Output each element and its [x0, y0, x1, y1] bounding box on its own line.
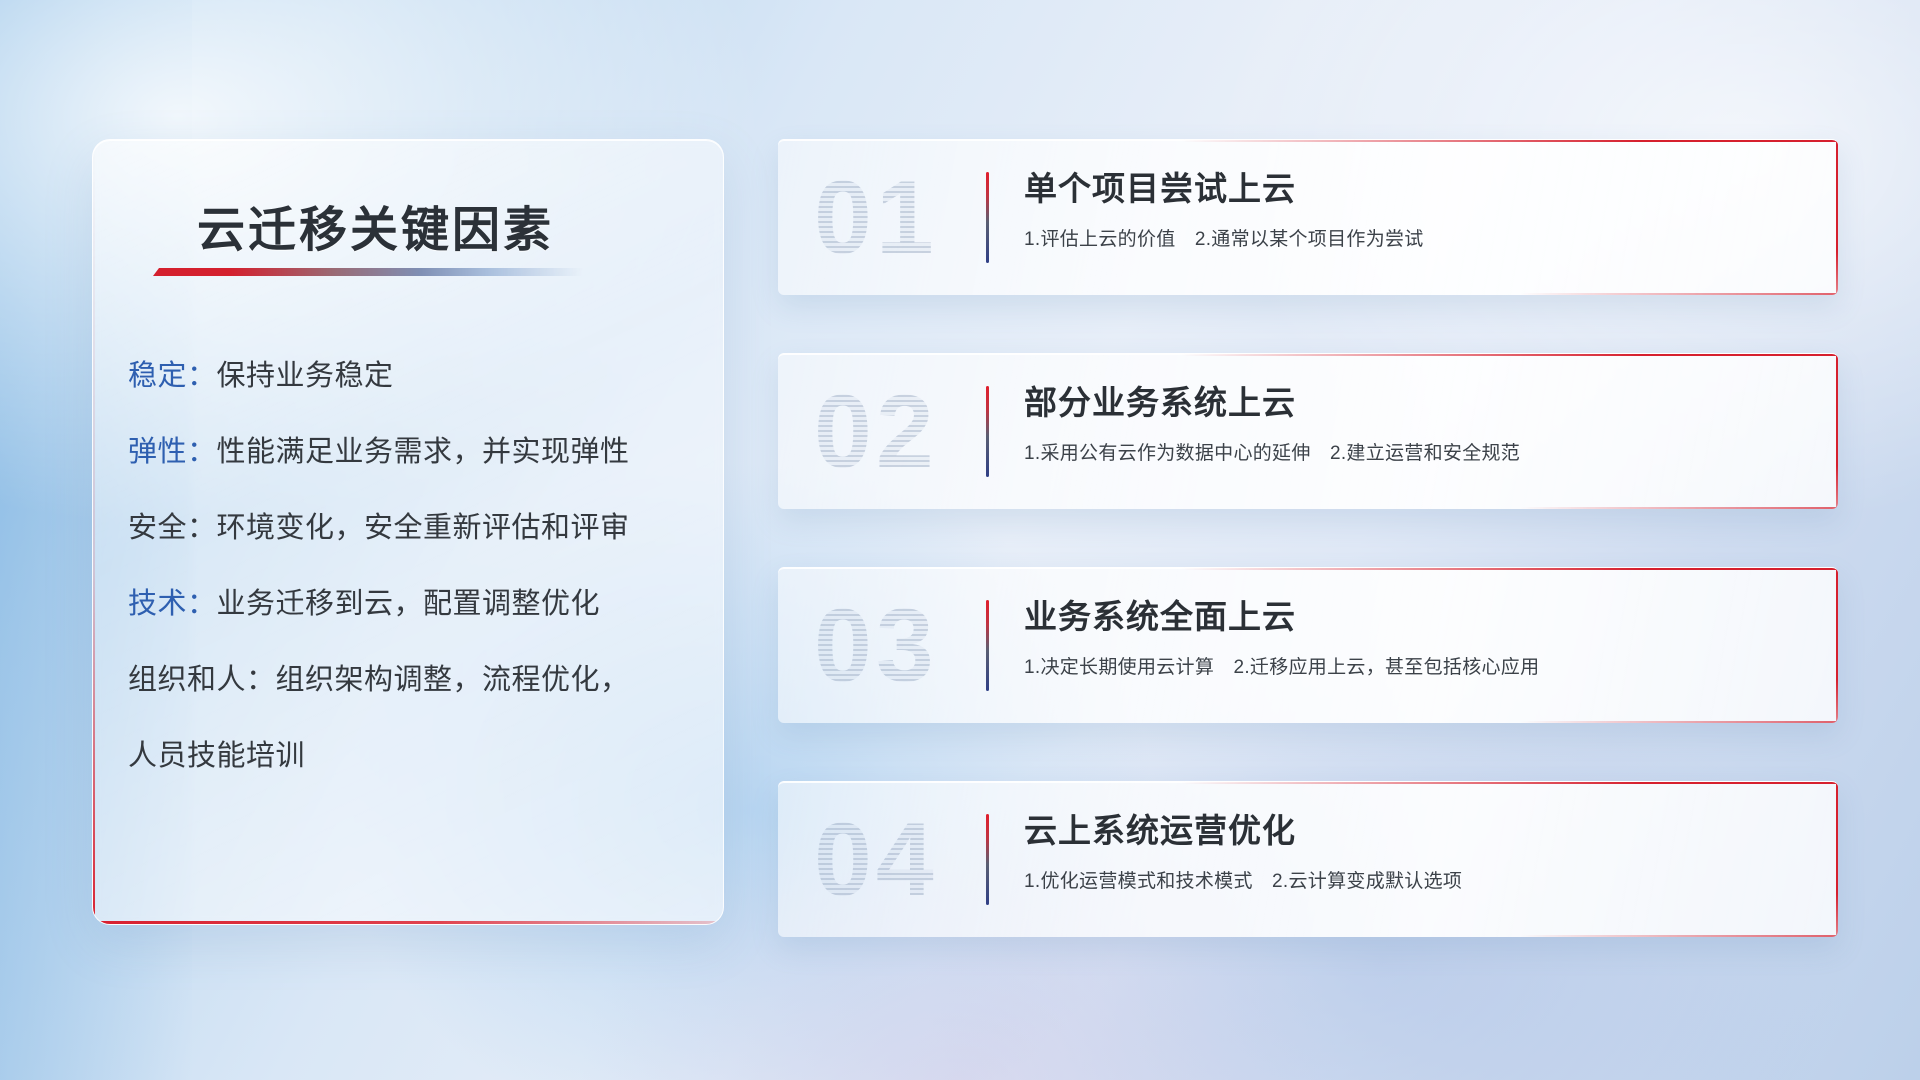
card-accent-bottom: [1520, 293, 1838, 295]
card-accent-right: [1836, 782, 1838, 937]
stage-cards-list: 01 01 单个项目尝试上云 1.评估上云的价值 2.通常以某个项目作为尝试 0…: [778, 139, 1838, 937]
card-accent-bottom: [1520, 507, 1838, 509]
card-accent-right: [1836, 354, 1838, 509]
card-body: 业务系统全面上云 1.决定长期使用云计算 2.迁移应用上云，甚至包括核心应用: [1024, 598, 1798, 679]
card-title: 单个项目尝试上云: [1024, 170, 1798, 208]
stage-card[interactable]: 02 02 部分业务系统上云 1.采用公有云作为数据中心的延伸 2.建立运营和安…: [778, 353, 1838, 509]
fact-key: 组织和人：: [128, 664, 276, 696]
card-accent-right: [1836, 568, 1838, 723]
card-accent-top: [1181, 140, 1838, 142]
slide-stage: 云迁移关键因素 稳定：保持业务稳定 弹性：性能满足业务需求，并实现弹性 安全：环…: [0, 0, 1920, 1080]
card-accent-right: [1836, 140, 1838, 295]
card-number: 01: [814, 166, 938, 270]
card-accent-top: [1181, 782, 1838, 784]
fact-value: 人员技能培训: [128, 740, 305, 772]
card-divider: [986, 172, 989, 263]
stage-card[interactable]: 04 04 云上系统运营优化 1.优化运营模式和技术模式 2.云计算变成默认选项: [778, 781, 1838, 937]
fact-value: 组织架构调整，流程优化，: [276, 664, 630, 696]
card-body: 单个项目尝试上云 1.评估上云的价值 2.通常以某个项目作为尝试: [1024, 170, 1798, 251]
card-accent-bottom: [1520, 935, 1838, 937]
list-item: 稳定：保持业务稳定: [128, 362, 699, 391]
card-accent-bottom: [1520, 721, 1838, 723]
card-accent-top: [1181, 354, 1838, 356]
card-title: 业务系统全面上云: [1024, 598, 1798, 636]
card-title: 云上系统运营优化: [1024, 812, 1798, 850]
fact-key: 安全：: [128, 512, 217, 544]
card-divider: [986, 386, 989, 477]
card-number: 04: [814, 808, 938, 912]
key-factors-list: 稳定：保持业务稳定 弹性：性能满足业务需求，并实现弹性 安全：环境变化，安全重新…: [128, 362, 699, 771]
page-title: 云迁移关键因素: [197, 190, 554, 260]
card-subtitle: 1.优化运营模式和技术模式 2.云计算变成默认选项: [1024, 866, 1798, 893]
fact-value: 业务迁移到云，配置调整优化: [217, 588, 601, 620]
fact-value: 性能满足业务需求，并实现弹性: [217, 436, 630, 468]
stage-card[interactable]: 03 03 业务系统全面上云 1.决定长期使用云计算 2.迁移应用上云，甚至包括…: [778, 567, 1838, 723]
card-divider: [986, 814, 989, 905]
card-divider: [986, 600, 989, 691]
fact-value: 环境变化，安全重新评估和评审: [217, 512, 630, 544]
list-item: 技术：业务迁移到云，配置调整优化: [128, 590, 699, 619]
list-item: 弹性：性能满足业务需求，并实现弹性: [128, 438, 699, 467]
card-title: 部分业务系统上云: [1024, 384, 1798, 422]
card-number: 03: [814, 594, 938, 698]
title-gradient-rule: [153, 268, 583, 276]
key-factors-panel: 云迁移关键因素 稳定：保持业务稳定 弹性：性能满足业务需求，并实现弹性 安全：环…: [92, 139, 724, 925]
card-subtitle: 1.采用公有云作为数据中心的延伸 2.建立运营和安全规范: [1024, 438, 1798, 465]
stage-card[interactable]: 01 01 单个项目尝试上云 1.评估上云的价值 2.通常以某个项目作为尝试: [778, 139, 1838, 295]
list-item: 安全：环境变化，安全重新评估和评审: [128, 514, 699, 543]
fact-key: 技术：: [128, 588, 217, 620]
fact-key: 稳定：: [128, 360, 217, 392]
card-subtitle: 1.评估上云的价值 2.通常以某个项目作为尝试: [1024, 224, 1798, 251]
list-item: 人员技能培训: [128, 742, 699, 771]
card-number: 02: [814, 380, 938, 484]
card-body: 部分业务系统上云 1.采用公有云作为数据中心的延伸 2.建立运营和安全规范: [1024, 384, 1798, 465]
card-subtitle: 1.决定长期使用云计算 2.迁移应用上云，甚至包括核心应用: [1024, 652, 1798, 679]
fact-key: 弹性：: [128, 436, 217, 468]
card-body: 云上系统运营优化 1.优化运营模式和技术模式 2.云计算变成默认选项: [1024, 812, 1798, 893]
fact-value: 保持业务稳定: [217, 360, 394, 392]
list-item: 组织和人：组织架构调整，流程优化，: [128, 666, 699, 695]
card-accent-top: [1181, 568, 1838, 570]
